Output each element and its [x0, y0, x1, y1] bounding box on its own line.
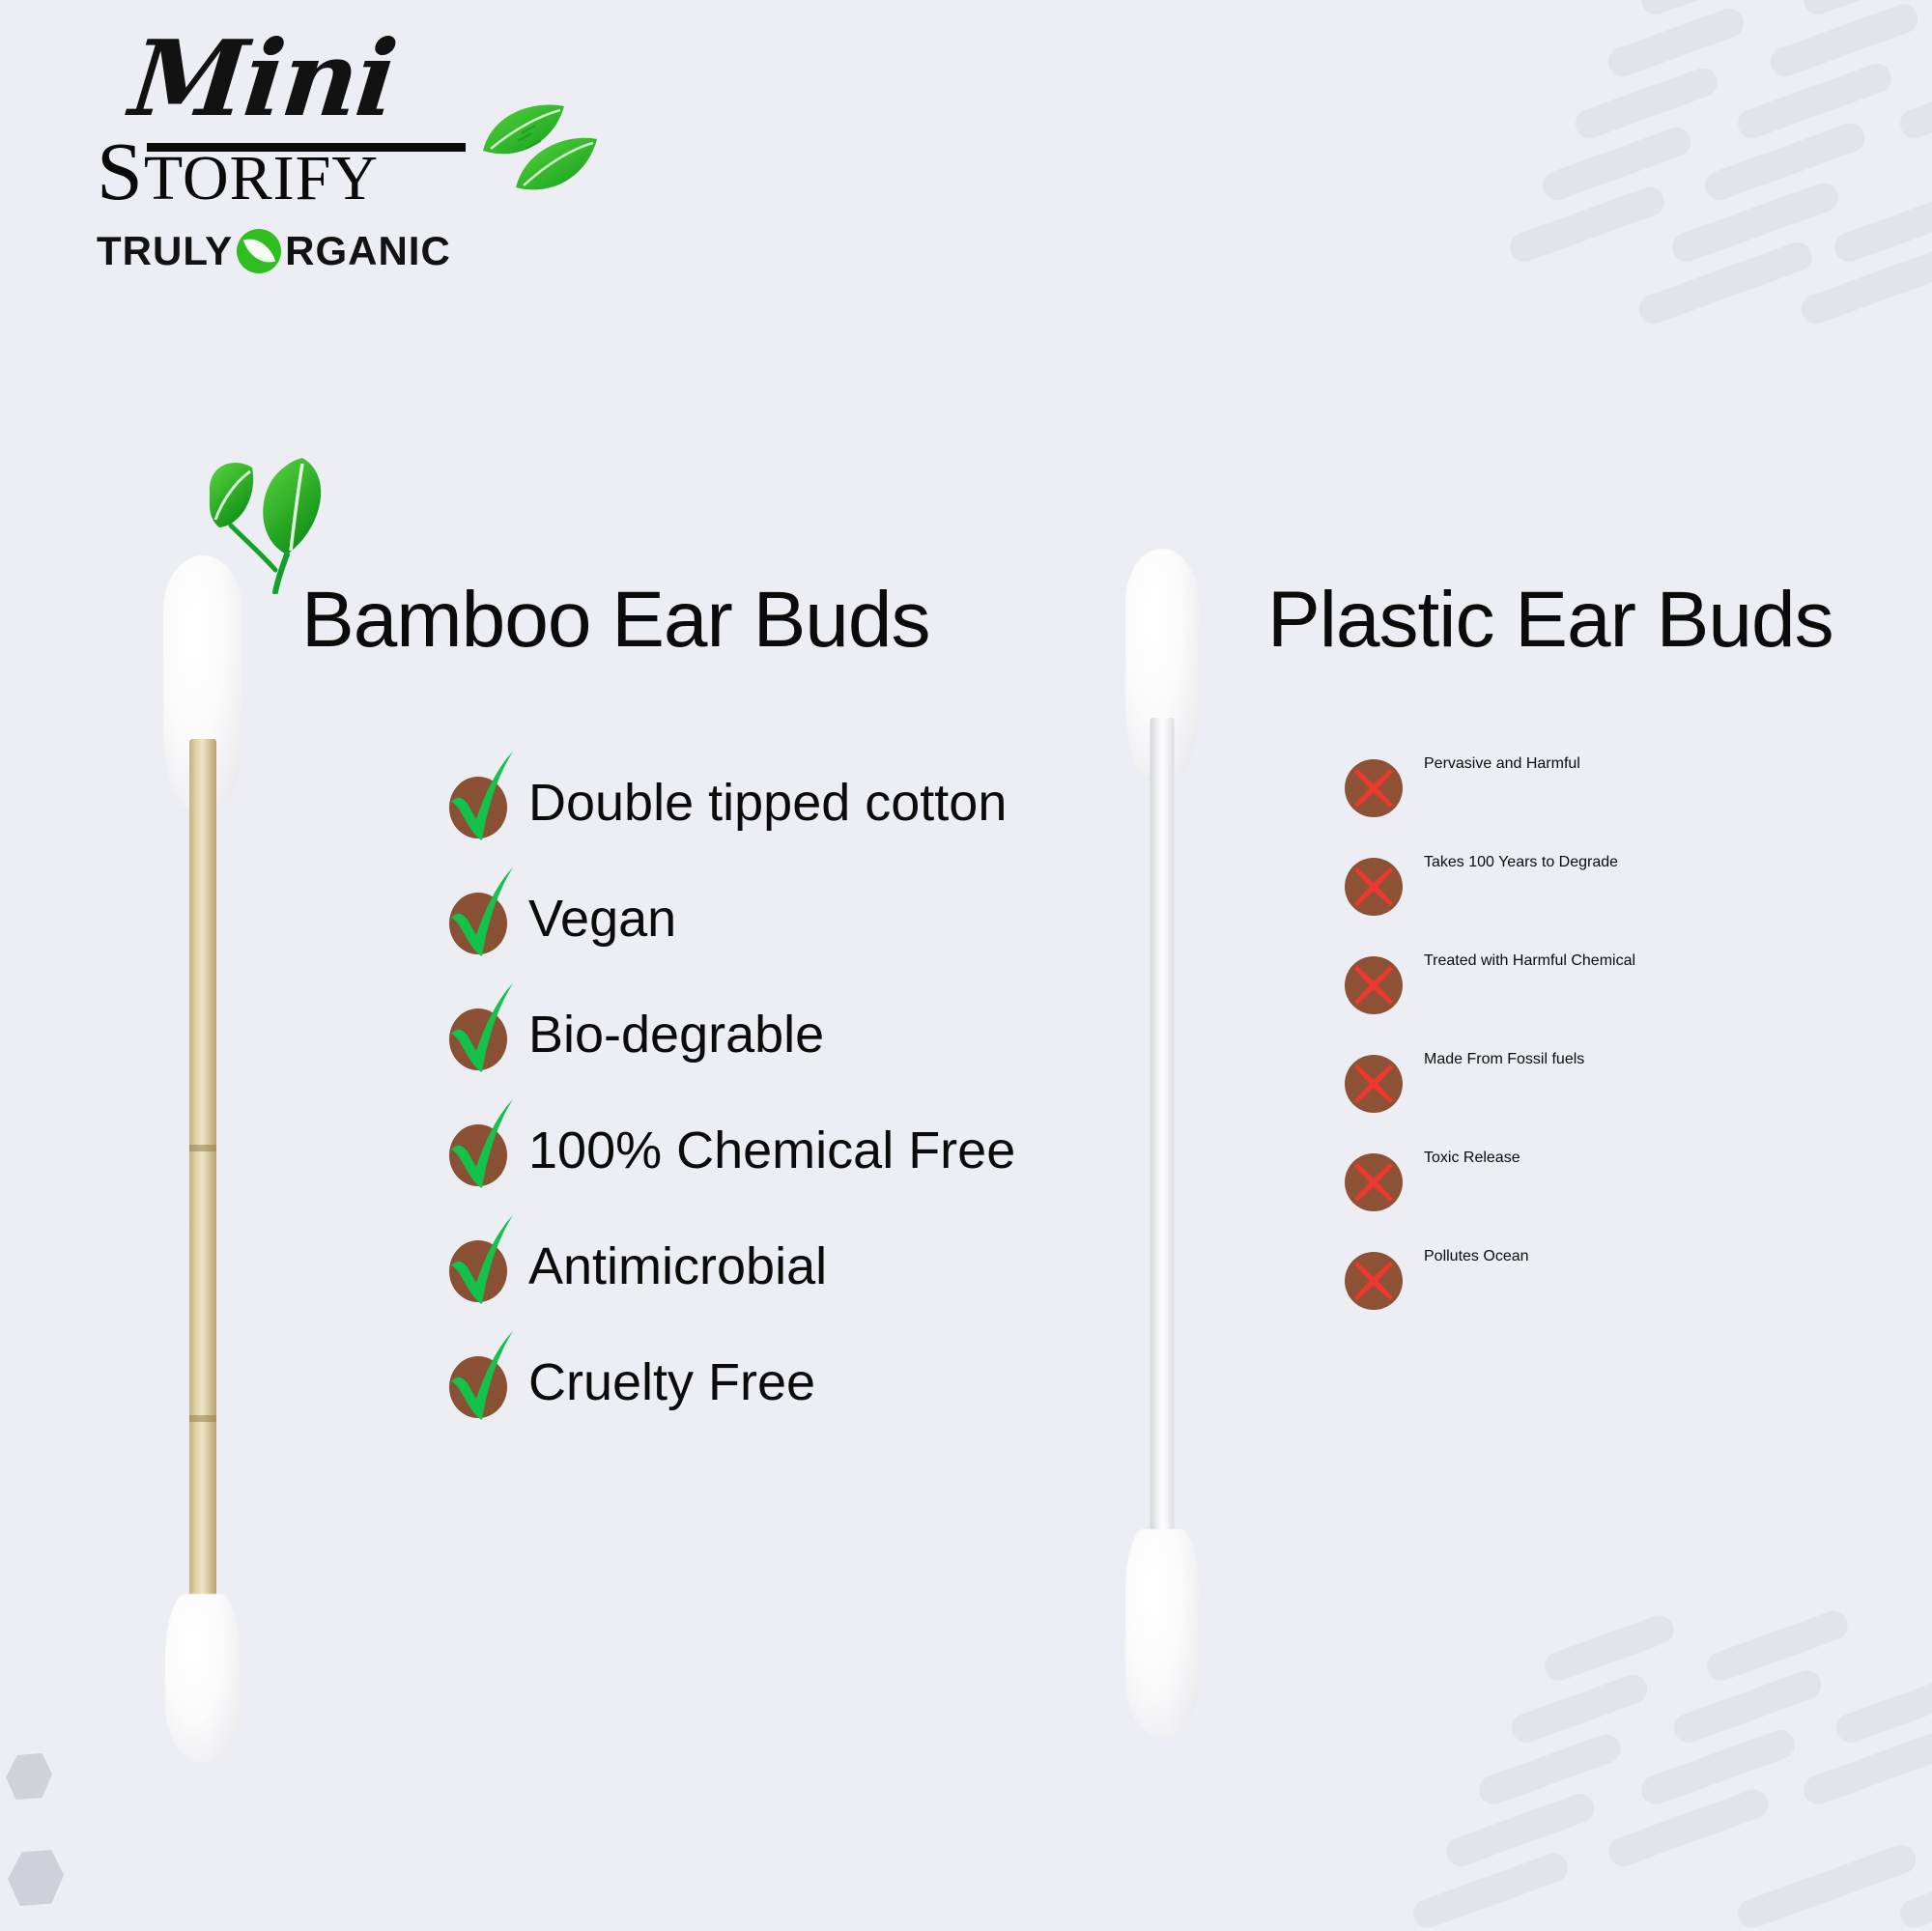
cross-icon [1350, 1159, 1397, 1206]
list-item-label: Cruelty Free [528, 1352, 815, 1414]
plastic-cotton-tip-bottom [1125, 1529, 1199, 1737]
bamboo-ear-bud-image [145, 555, 261, 1758]
cross-badge [1345, 858, 1403, 916]
bamboo-column: Bamboo Ear Buds Double tipped cottonVega… [0, 0, 1092, 1931]
list-item: Made From Fossil fuels [1345, 1051, 1924, 1113]
list-item: Takes 100 Years to Degrade [1345, 854, 1924, 916]
check-badge [449, 893, 507, 954]
cross-badge [1345, 759, 1403, 817]
cross-icon [1350, 765, 1397, 811]
list-item: Pervasive and Harmful [1345, 755, 1924, 817]
check-badge [449, 1356, 507, 1418]
check-badge [449, 777, 507, 838]
cross-badge [1345, 1055, 1403, 1113]
plastic-column: Plastic Ear Buds Pervasive and HarmfulTa… [1092, 0, 1932, 1931]
bamboo-heading-leaf-icon [198, 454, 362, 594]
cross-icon [1350, 1258, 1397, 1304]
list-item: Cruelty Free [449, 1352, 1048, 1418]
list-item: Toxic Release [1345, 1150, 1924, 1211]
cross-icon [1350, 864, 1397, 910]
cross-badge [1345, 1252, 1403, 1310]
list-item-label: Bio-degrable [528, 1005, 824, 1066]
list-item-label: Made From Fossil fuels [1424, 1051, 1584, 1069]
bamboo-title: Bamboo Ear Buds [301, 575, 930, 666]
list-item-label: Toxic Release [1424, 1150, 1520, 1168]
bamboo-joint [189, 1145, 216, 1151]
bamboo-stick [189, 739, 216, 1608]
list-item-label: Pollutes Ocean [1424, 1248, 1529, 1266]
cross-icon [1350, 962, 1397, 1008]
bamboo-cotton-tip-bottom [165, 1594, 241, 1763]
list-item-label: Treated with Harmful Chemical [1424, 952, 1635, 971]
bamboo-joint [189, 1415, 216, 1422]
cross-badge [1345, 1153, 1403, 1211]
check-badge [449, 1008, 507, 1070]
list-item-label: Double tipped cotton [528, 773, 1007, 835]
list-item-label: Vegan [528, 889, 676, 951]
list-item: Double tipped cotton [449, 773, 1048, 838]
list-item: Bio-degrable [449, 1005, 1048, 1070]
cross-badge [1345, 956, 1403, 1014]
plastic-title: Plastic Ear Buds [1267, 575, 1833, 666]
list-item: Antimicrobial [449, 1236, 1048, 1302]
plastic-stick [1151, 718, 1175, 1539]
list-item: Pollutes Ocean [1345, 1248, 1924, 1310]
check-icon [445, 1331, 517, 1424]
check-badge [449, 1124, 507, 1186]
check-icon [445, 867, 517, 960]
bamboo-feature-list: Double tipped cottonVeganBio-degrable100… [449, 773, 1048, 1418]
check-badge [449, 1240, 507, 1302]
list-item: Treated with Harmful Chemical [1345, 952, 1924, 1014]
plastic-feature-list: Pervasive and HarmfulTakes 100 Years to … [1345, 755, 1924, 1310]
list-item-label: Pervasive and Harmful [1424, 755, 1580, 774]
check-icon [445, 1099, 517, 1192]
list-item-label: Antimicrobial [528, 1236, 827, 1298]
check-icon [445, 752, 517, 844]
cross-icon [1350, 1061, 1397, 1107]
check-icon [445, 983, 517, 1076]
check-icon [445, 1215, 517, 1308]
list-item-label: Takes 100 Years to Degrade [1424, 854, 1618, 872]
plastic-ear-bud-image [1109, 549, 1215, 1737]
list-item-label: 100% Chemical Free [528, 1121, 1015, 1182]
list-item: 100% Chemical Free [449, 1121, 1048, 1186]
list-item: Vegan [449, 889, 1048, 954]
